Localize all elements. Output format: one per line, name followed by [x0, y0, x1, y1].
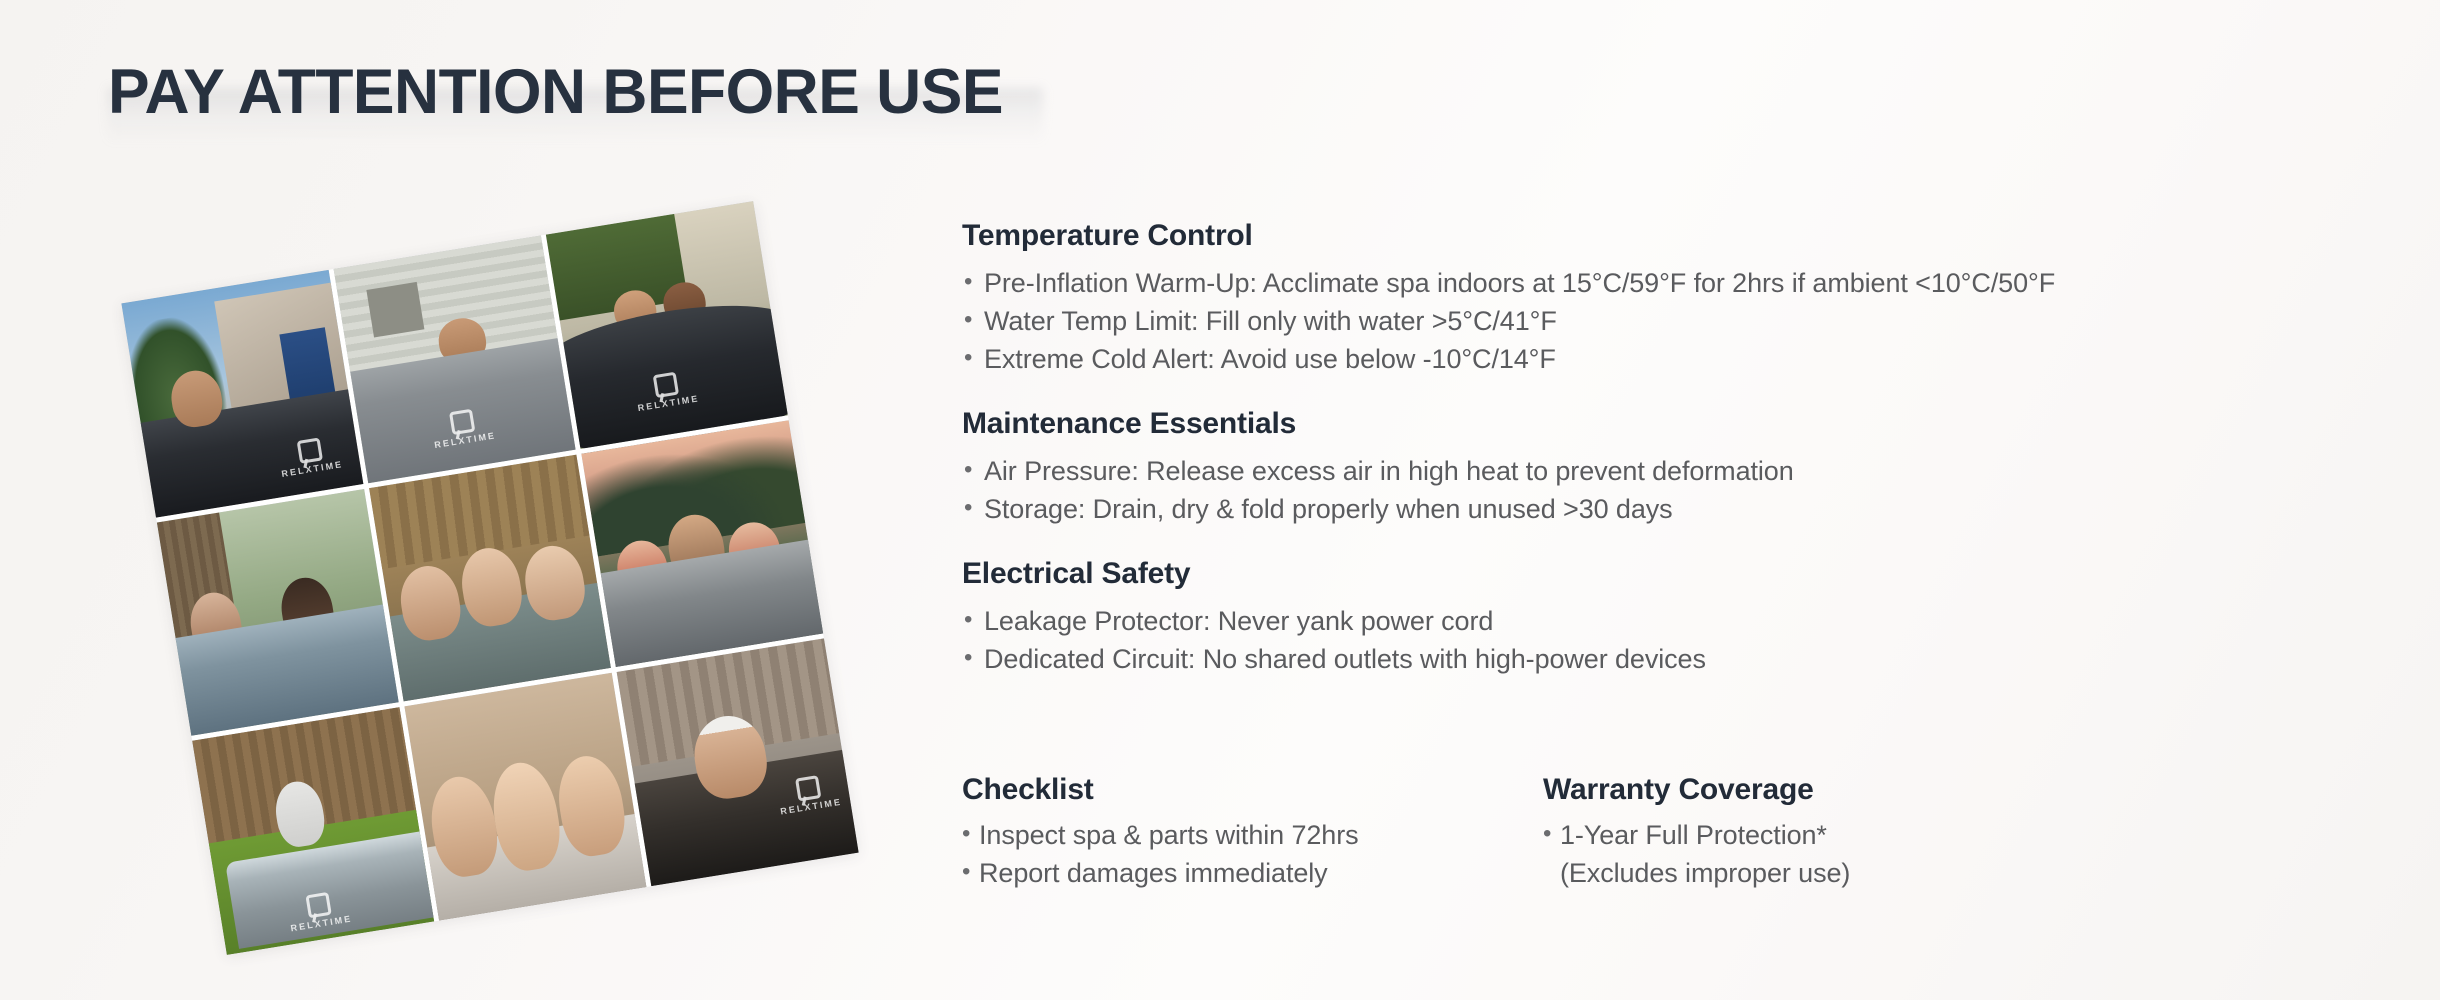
relxtime-mark-icon: [449, 409, 475, 435]
collage-photo: RELXTIME: [192, 707, 434, 954]
relxtime-mark-icon: [652, 371, 678, 397]
section-bullet-list: Leakage Protector: Never yank power cord…: [962, 602, 2362, 678]
page-title-block: PAY ATTENTION BEFORE USE: [108, 52, 1208, 142]
list-item: Air Pressure: Release excess air in high…: [962, 452, 2362, 490]
section-bullet-list: 1-Year Full Protection* (Excludes improp…: [1543, 816, 2143, 892]
list-item: Report damages immediately: [962, 854, 1543, 892]
section-heading: Checklist: [962, 770, 1543, 810]
section-bullet-list: Air Pressure: Release excess air in high…: [962, 452, 2362, 528]
warranty-exclusion-note: (Excludes improper use): [1543, 854, 2143, 892]
relxtime-mark-icon: [795, 775, 821, 801]
photo-collage: RELXTIME RELXTIME: [108, 240, 898, 960]
list-item: Pre-Inflation Warm-Up: Acclimate spa ind…: [962, 264, 2362, 302]
collage-photo: RELXTIME: [546, 201, 788, 448]
collage-photo: RELXTIME: [617, 639, 859, 886]
section-heading: Warranty Coverage: [1543, 770, 2143, 810]
relxtime-mark-icon: [305, 892, 331, 918]
photo-window: [367, 282, 424, 337]
section-heading: Electrical Safety: [962, 554, 2362, 594]
collage-photo: [157, 489, 399, 736]
section-bullet-list: Pre-Inflation Warm-Up: Acclimate spa ind…: [962, 264, 2362, 378]
list-item: Water Temp Limit: Fill only with water >…: [962, 302, 2362, 340]
section-maintenance-essentials: Maintenance Essentials Air Pressure: Rel…: [962, 404, 2362, 528]
page-title: PAY ATTENTION BEFORE USE: [108, 52, 1003, 132]
list-item: Storage: Drain, dry & fold properly when…: [962, 490, 2362, 528]
section-heading: Temperature Control: [962, 216, 2362, 256]
collage-photo: [369, 454, 611, 701]
list-item: 1-Year Full Protection*: [1543, 816, 2143, 854]
list-item: Leakage Protector: Never yank power cord: [962, 602, 2362, 640]
section-electrical-safety: Electrical Safety Leakage Protector: Nev…: [962, 554, 2362, 678]
collage-photo: [404, 673, 646, 920]
section-warranty-coverage: Warranty Coverage 1-Year Full Protection…: [1543, 770, 2143, 892]
list-item: Inspect spa & parts within 72hrs: [962, 816, 1543, 854]
collage-photo: RELXTIME: [121, 270, 363, 517]
section-bullet-list: Inspect spa & parts within 72hrs Report …: [962, 816, 1543, 892]
section-temperature-control: Temperature Control Pre-Inflation Warm-U…: [962, 216, 2362, 378]
list-item: Extreme Cold Alert: Avoid use below -10°…: [962, 340, 2362, 378]
footer-columns: Checklist Inspect spa & parts within 72h…: [962, 770, 2362, 892]
relxtime-mark-icon: [296, 438, 322, 464]
section-checklist: Checklist Inspect spa & parts within 72h…: [962, 770, 1543, 892]
list-item: Dedicated Circuit: No shared outlets wit…: [962, 640, 2362, 678]
collage-photo: [581, 420, 823, 667]
collage-grid: RELXTIME RELXTIME: [121, 201, 858, 955]
instructions-column: Temperature Control Pre-Inflation Warm-U…: [962, 216, 2362, 678]
section-heading: Maintenance Essentials: [962, 404, 2362, 444]
collage-photo: RELXTIME: [334, 235, 576, 482]
slide-canvas: PAY ATTENTION BEFORE USE RELXTIME: [0, 0, 2440, 1000]
